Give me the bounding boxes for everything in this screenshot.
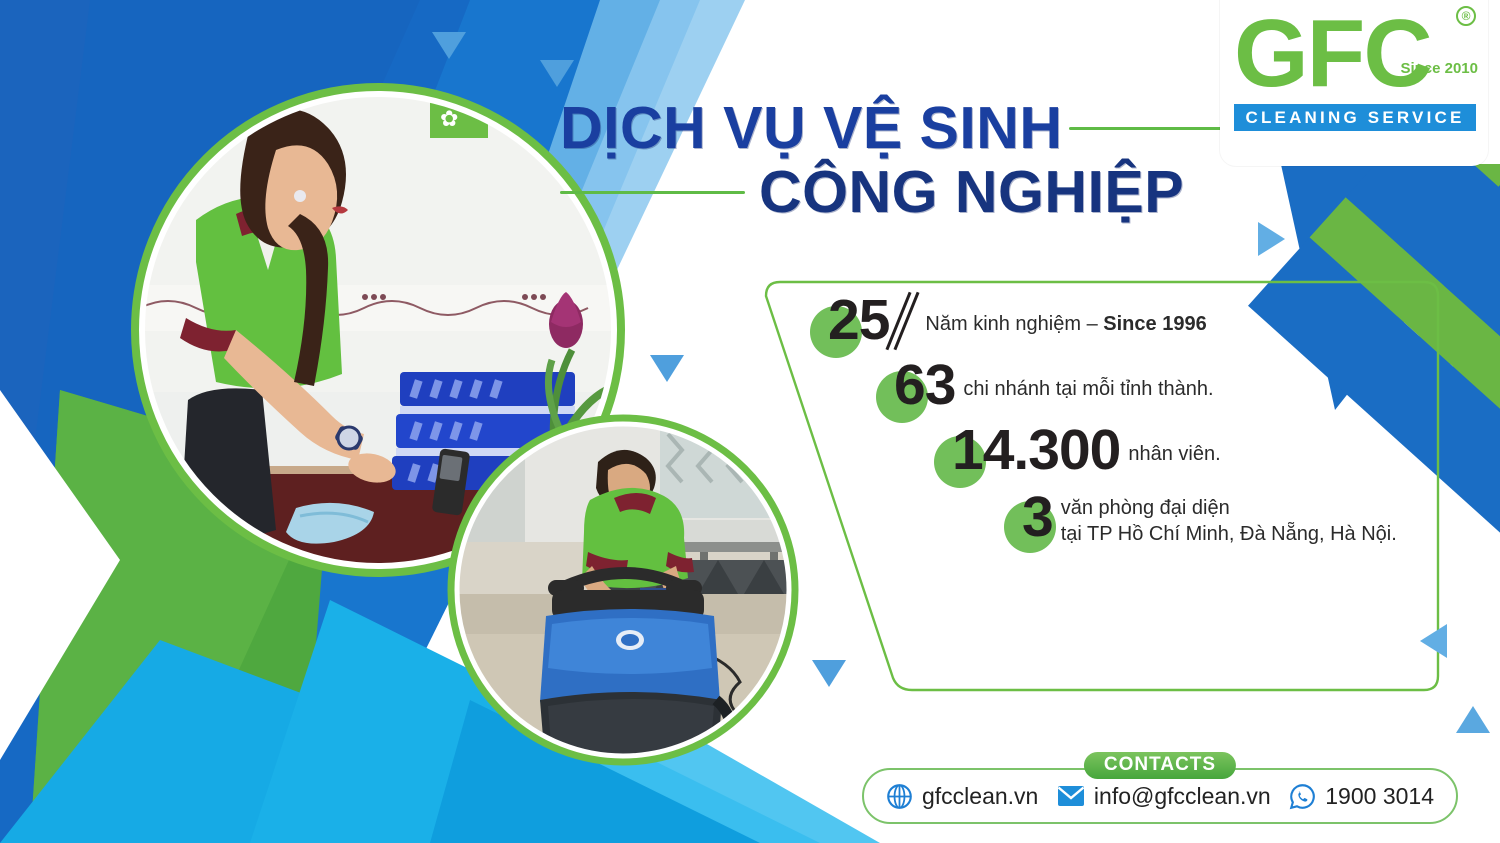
triangle-decoration-icon (650, 355, 684, 382)
logo-since-text: Since 2010 (1400, 60, 1478, 77)
stat-slash-icon (891, 294, 917, 348)
stat-item: 3 văn phòng đại diện tại TP Hồ Chí Minh,… (1004, 487, 1430, 548)
stat-description: văn phòng đại diện tại TP Hồ Chí Minh, Đ… (1061, 495, 1397, 548)
stat-number: 63 (894, 357, 955, 414)
stats-panel: 25 Năm kinh nghiệm – Since 1996 63 chi n… (740, 282, 1440, 692)
stat-description: nhân viên. (1128, 441, 1220, 467)
stat-item: 63 chi nhánh tại mỗi tỉnh thành. (876, 357, 1430, 414)
title-line-2: CÔNG NGHIỆP (759, 162, 1184, 222)
stat-item: 25 Năm kinh nghiệm – Since 1996 (810, 292, 1430, 349)
contact-email[interactable]: info@gfcclean.vn (1057, 783, 1271, 810)
envelope-icon (1057, 785, 1085, 807)
contact-website-label: gfcclean.vn (922, 783, 1038, 810)
poster-canvas: ✿ (0, 0, 1500, 843)
triangle-decoration-icon (432, 32, 466, 59)
stats-list: 25 Năm kinh nghiệm – Since 1996 63 chi n… (810, 292, 1430, 556)
stat-description: chi nhánh tại mỗi tỉnh thành. (963, 376, 1213, 402)
stat-description: Năm kinh nghiệm – Since 1996 (925, 311, 1206, 337)
logo-letters: GFC (1234, 4, 1431, 104)
poster-title: DỊCH VỤ VỆ SINH CÔNG NGHIỆP (560, 98, 1280, 222)
triangle-decoration-icon (540, 60, 574, 87)
stat-number: 3 (1022, 489, 1053, 546)
contact-website[interactable]: gfcclean.vn (886, 783, 1038, 810)
contacts-bar: gfcclean.vn info@gfcclean.vn 1900 3014 C… (862, 768, 1458, 824)
title-rule-left (560, 191, 745, 194)
contact-phone-label: 1900 3014 (1325, 783, 1434, 810)
logo-mark: GFC ® Since 2010 (1220, 2, 1488, 108)
gfc-logo[interactable]: GFC ® Since 2010 CLEANING SERVICE (1220, 0, 1488, 166)
logo-tagline: CLEANING SERVICE (1234, 104, 1476, 131)
triangle-decoration-icon (1456, 706, 1490, 733)
title-line-1: DỊCH VỤ VỆ SINH (560, 98, 1063, 158)
registered-trademark-icon: ® (1456, 6, 1476, 26)
globe-icon (886, 783, 913, 810)
whatsapp-icon (1289, 783, 1316, 810)
triangle-decoration-icon (1258, 222, 1285, 256)
title-rule-right (1069, 127, 1239, 130)
contact-email-label: info@gfcclean.vn (1094, 783, 1271, 810)
contacts-badge: CONTACTS (1084, 752, 1236, 779)
stat-item: 14.300 nhân viên. (934, 422, 1430, 479)
stat-number: 25 (828, 292, 889, 349)
contact-phone[interactable]: 1900 3014 (1289, 783, 1434, 810)
stat-number: 14.300 (952, 422, 1120, 479)
